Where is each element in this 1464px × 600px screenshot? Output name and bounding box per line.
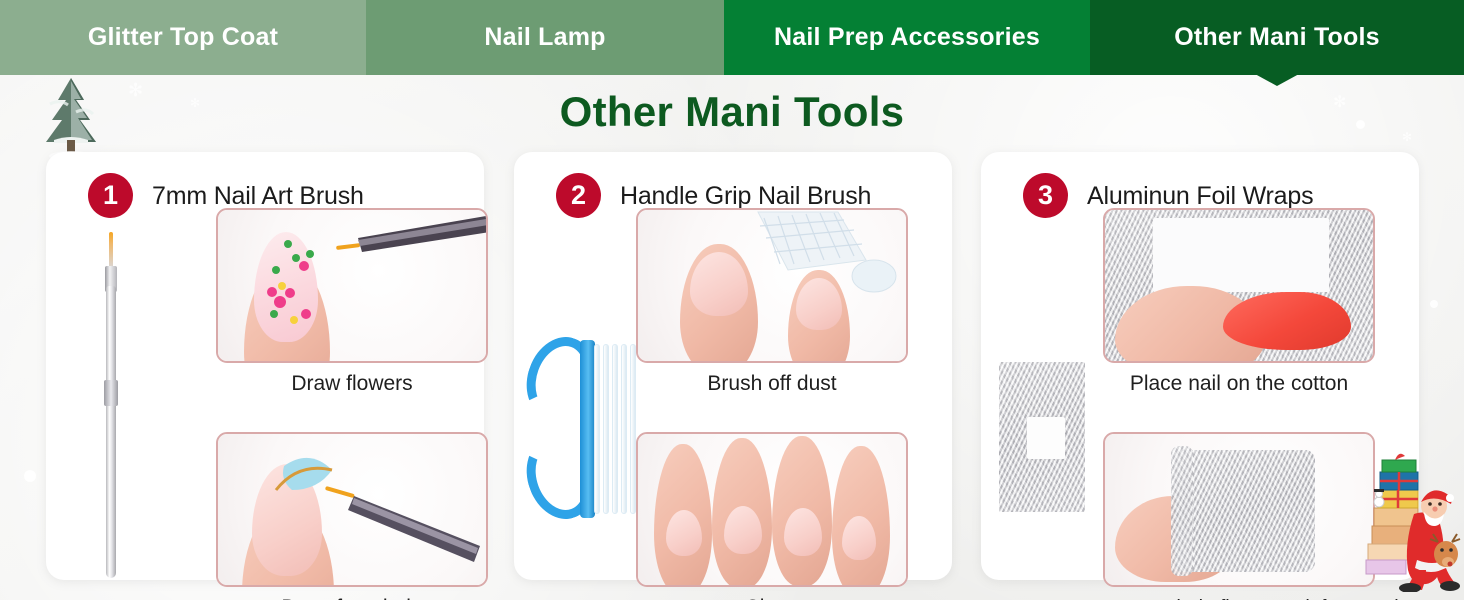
step-caption: Cover whole finger, wait for 15 mins	[1103, 591, 1375, 600]
product-card-list: 1 7mm Nail Art Brush	[0, 152, 1464, 582]
step-image-finger-wrapped-in-foil	[1103, 432, 1375, 587]
product-card: 1 7mm Nail Art Brush	[46, 152, 484, 580]
step-number-badge: 3	[1023, 173, 1068, 218]
tab-other-mani-tools[interactable]: Other Mani Tools	[1090, 0, 1464, 75]
step-image-draw-flowers	[216, 208, 488, 363]
step-caption: Draw french tip	[216, 591, 488, 600]
step-image-brush-off-dust	[636, 208, 908, 363]
page-title: Other Mani Tools	[0, 88, 1464, 136]
step-image-clean-nails	[636, 432, 908, 587]
step-image-place-nail-on-cotton	[1103, 208, 1375, 363]
tab-label: Glitter Top Coat	[88, 23, 278, 52]
step-image-draw-french-tip	[216, 432, 488, 587]
step-panels: Place nail on the cotton Cover whole fin…	[1103, 208, 1375, 600]
step-caption: Place nail on the cotton	[1103, 367, 1375, 401]
tab-nail-lamp[interactable]: Nail Lamp	[366, 0, 724, 75]
step-panels: Brush off dust Clean	[636, 208, 908, 600]
step-number-badge: 1	[88, 173, 133, 218]
product-image-foil-wrap	[981, 214, 1111, 574]
tab-nail-prep-accessories[interactable]: Nail Prep Accessories	[724, 0, 1090, 75]
product-image-nail-art-brush	[46, 214, 176, 574]
product-card: 3 Aluminun Foil Wraps Place nail on the …	[981, 152, 1419, 580]
product-card: 2 Handle Grip Nail Brush	[514, 152, 952, 580]
tab-label: Nail Prep Accessories	[774, 23, 1040, 52]
tab-label: Nail Lamp	[484, 23, 605, 52]
promo-banner: Glitter Top Coat Nail Lamp Nail Prep Acc…	[0, 0, 1464, 600]
step-caption: Draw flowers	[216, 367, 488, 401]
category-tab-bar: Glitter Top Coat Nail Lamp Nail Prep Acc…	[0, 0, 1464, 75]
step-caption: Brush off dust	[636, 367, 908, 401]
snow-dot-icon	[1356, 120, 1365, 129]
tab-glitter-top-coat[interactable]: Glitter Top Coat	[0, 0, 366, 75]
tab-label: Other Mani Tools	[1174, 23, 1380, 52]
active-tab-pointer-icon	[1255, 74, 1299, 86]
step-panels: Draw flowers	[216, 208, 488, 600]
step-caption: Clean	[636, 591, 908, 600]
product-image-handle-grip-brush	[514, 214, 644, 574]
step-number-badge: 2	[556, 173, 601, 218]
